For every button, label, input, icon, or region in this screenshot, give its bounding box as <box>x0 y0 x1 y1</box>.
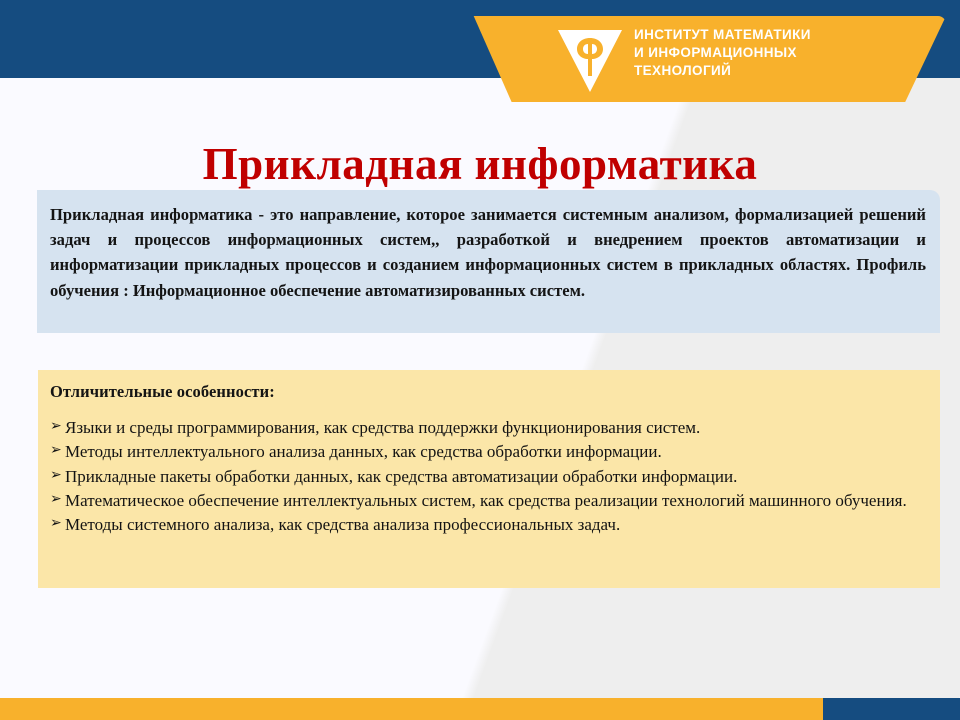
triangle-phi-logo-icon <box>554 24 626 96</box>
list-item: ➢ Методы интеллектуального анализа данны… <box>50 440 924 463</box>
org-name-line-1: Институт математики <box>634 26 934 44</box>
definition-text: Прикладная информатика - это направление… <box>50 202 926 303</box>
org-name-line-2: и информационных <box>634 44 934 62</box>
arrow-bullet-icon: ➢ <box>50 489 62 511</box>
footer-navy-bar <box>823 698 960 720</box>
features-list: ➢ Языки и среды программирования, как ср… <box>50 416 924 536</box>
list-item-label: Методы системного анализа, как средства … <box>65 515 620 534</box>
arrow-bullet-icon: ➢ <box>50 440 62 462</box>
header-content: Институт математики и информационных тех… <box>466 16 946 102</box>
arrow-bullet-icon: ➢ <box>50 513 62 535</box>
list-item-label: Языки и среды программирования, как сред… <box>65 418 700 437</box>
arrow-bullet-icon: ➢ <box>50 416 62 438</box>
list-item-label: Математическое обеспечение интеллектуаль… <box>65 491 907 510</box>
list-item: ➢ Языки и среды программирования, как ср… <box>50 416 924 439</box>
footer-orange-bar <box>0 698 823 720</box>
organization-name: Институт математики и информационных тех… <box>634 26 934 79</box>
arrow-bullet-icon: ➢ <box>50 465 62 487</box>
features-box: Отличительные особенности: ➢ Языки и сре… <box>38 370 940 588</box>
list-item: ➢ Методы системного анализа, как средств… <box>50 513 924 536</box>
features-heading: Отличительные особенности: <box>50 382 924 402</box>
page-title: Прикладная информатика <box>0 138 960 190</box>
presentation-slide: Институт математики и информационных тех… <box>0 0 960 720</box>
definition-box: Прикладная информатика - это направление… <box>37 190 940 333</box>
list-item-label: Методы интеллектуального анализа данных,… <box>65 442 662 461</box>
org-name-line-3: технологий <box>634 62 934 80</box>
list-item: ➢ Прикладные пакеты обработки данных, ка… <box>50 465 924 488</box>
list-item: ➢ Математическое обеспечение интеллектуа… <box>50 489 924 512</box>
list-item-label: Прикладные пакеты обработки данных, как … <box>65 467 737 486</box>
